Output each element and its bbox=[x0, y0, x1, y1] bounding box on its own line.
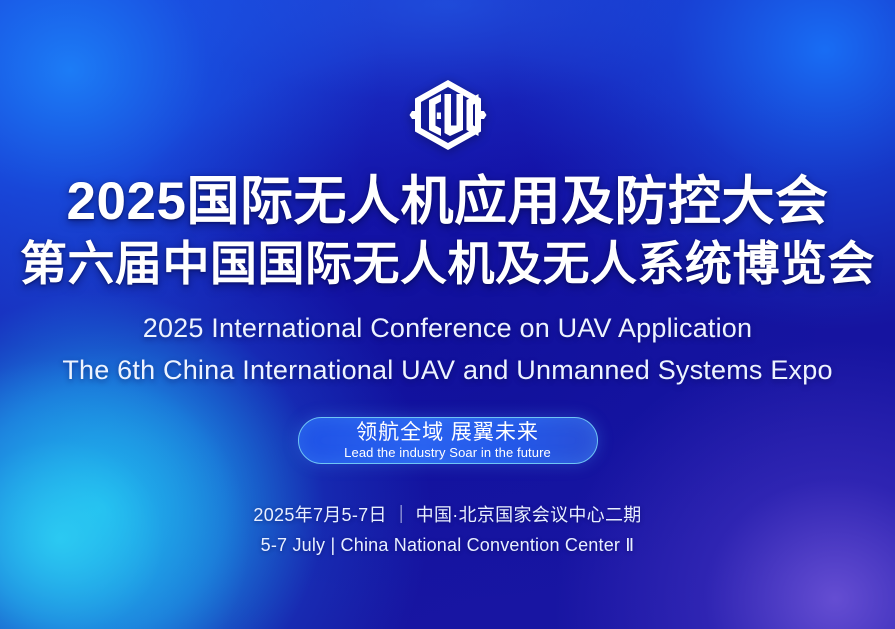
guc-hexagon-logo-icon bbox=[408, 79, 488, 151]
slogan-chinese: 领航全域 展翼未来 bbox=[356, 422, 539, 443]
page-title-english-secondary: The 6th China International UAV and Unma… bbox=[62, 354, 832, 387]
slogan-english: Lead the industry Soar in the future bbox=[344, 446, 551, 459]
event-date-venue-chinese: 2025年7月5-7日 ｜ 中国·北京国家会议中心二期 bbox=[253, 504, 641, 527]
poster-content: 2025国际无人机应用及防控大会 第六届中国国际无人机及无人系统博览会 2025… bbox=[0, 0, 895, 629]
page-title-chinese-secondary: 第六届中国国际无人机及无人系统博览会 bbox=[20, 239, 875, 290]
page-title-chinese-primary: 2025国际无人机应用及防控大会 bbox=[67, 173, 829, 230]
page-title-english-primary: 2025 International Conference on UAV App… bbox=[143, 312, 753, 345]
slogan-badge: 领航全域 展翼未来 Lead the industry Soar in the … bbox=[298, 417, 598, 464]
event-date-venue-english: 5-7 July | China National Convention Cen… bbox=[261, 534, 635, 557]
conference-poster: 2025国际无人机应用及防控大会 第六届中国国际无人机及无人系统博览会 2025… bbox=[0, 0, 895, 629]
